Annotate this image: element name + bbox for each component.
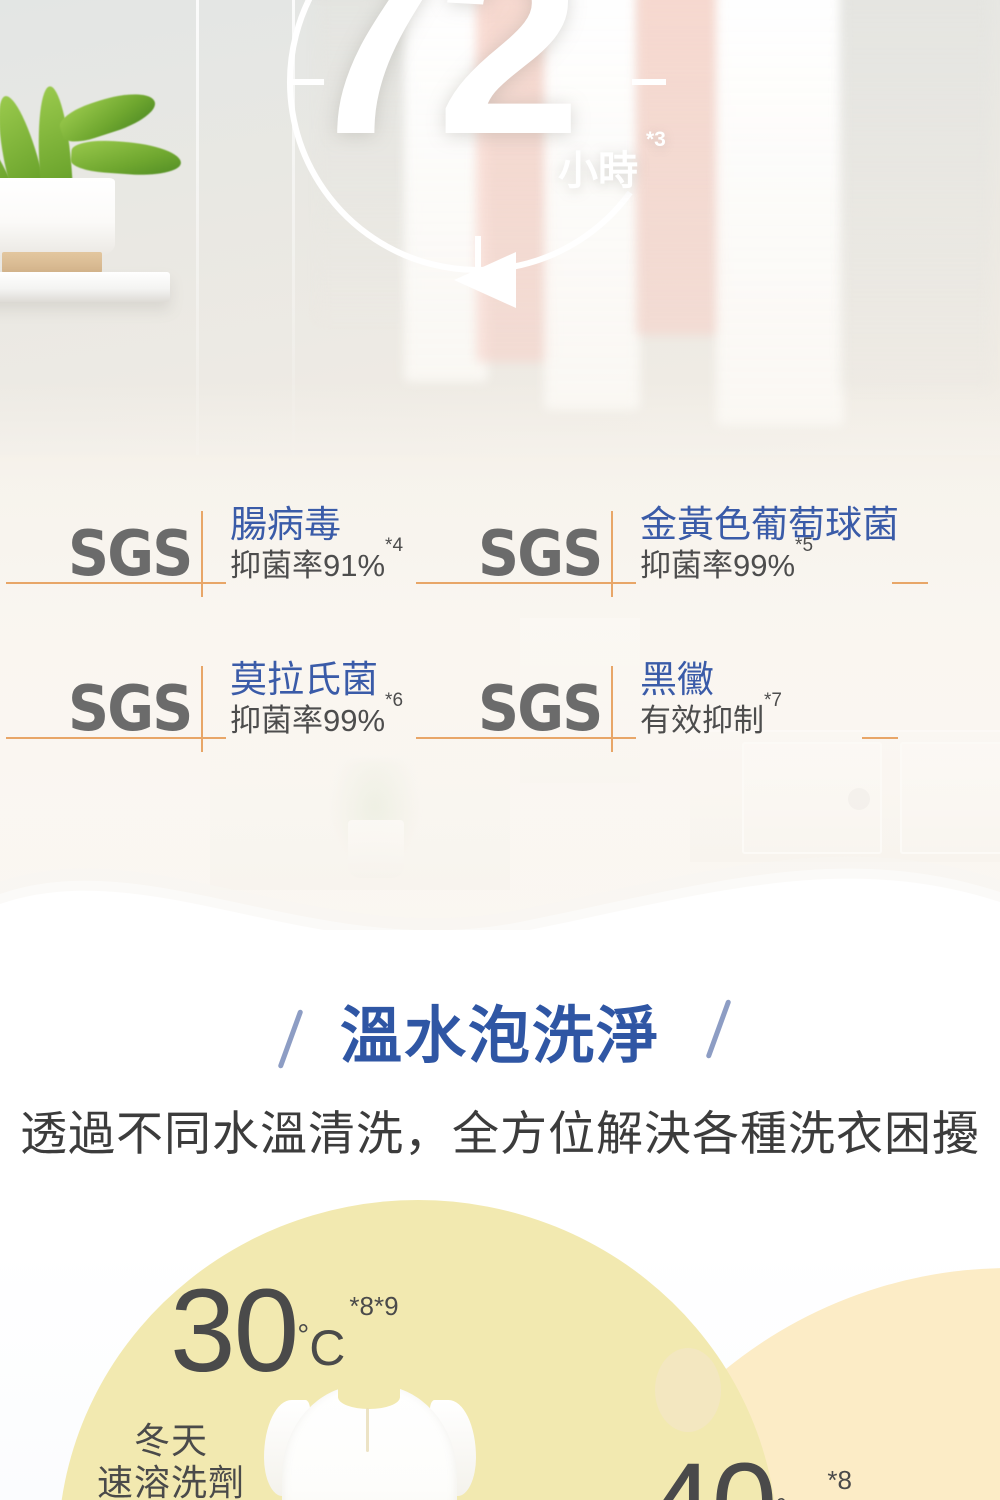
certification-title: 莫拉氏菌: [230, 660, 505, 700]
badge-divider-vertical: [201, 666, 203, 752]
temperature-unit: °C: [775, 1494, 823, 1500]
wall-shelf: [0, 272, 170, 302]
sgs-logo: SGS: [478, 523, 601, 585]
certification-metric: 抑菌率91%*4: [230, 547, 505, 586]
metric-footnote: *4: [385, 535, 403, 556]
plant-leaf: [70, 138, 182, 178]
badge-divider-vertical: [611, 666, 613, 752]
duration-unit: 小時: [558, 138, 638, 196]
hanging-shirt: [716, 0, 844, 426]
section-subheadline: 透過不同水溫清洗，全方位解決各種洗衣困擾: [0, 1095, 1000, 1164]
sgs-logo: SGS: [68, 678, 191, 740]
sgs-logo: SGS: [478, 678, 601, 740]
duration-footnote: *3: [646, 128, 666, 152]
certification-badge-moraxella: SGS 莫拉氏菌 抑菌率99%*6: [68, 660, 498, 770]
unit-letter: C: [309, 1320, 345, 1376]
sgs-logo: SGS: [68, 523, 191, 585]
certification-metric: 抑菌率99%*5: [640, 547, 915, 586]
badge-divider-tail: [862, 737, 898, 739]
badge-divider-tail: [892, 582, 928, 584]
certification-badge-staphylococcus: SGS 金黃色葡萄球菌 抑菌率99%*5: [478, 505, 908, 615]
temperature-value: 40: [648, 1439, 775, 1500]
plant-pot: [0, 178, 115, 258]
certification-title: 腸病毒: [230, 505, 505, 545]
metric-footnote: *7: [764, 690, 782, 711]
metric-footnote: *5: [795, 535, 813, 556]
decorative-dot: [655, 1348, 721, 1432]
temperature-callout-30: 30°C*8*9: [170, 1272, 395, 1390]
degree-symbol: °: [775, 1493, 787, 1500]
temperature-footnote: *8: [827, 1465, 852, 1495]
duration-callout: 72 小時 *3: [300, 0, 720, 250]
temperature-footnote: *8*9: [349, 1291, 398, 1321]
metric-footnote: *6: [385, 690, 403, 711]
certification-grid: SGS 腸病毒 抑菌率91%*4 SGS 金黃色葡萄球菌 抑菌率99%*5 SG…: [0, 505, 1000, 805]
garment-neckline: [338, 1385, 400, 1409]
badge-divider-vertical: [611, 511, 613, 597]
metric-value: 抑菌率99%: [640, 548, 795, 583]
temperature-label-30: 冬天 速溶洗劑: [66, 1420, 276, 1500]
plant-leaf: [56, 85, 160, 148]
metric-value: 有效抑制: [640, 703, 764, 738]
hanging-garment: [840, 0, 990, 390]
duration-value: 72: [300, 0, 573, 174]
certification-badge-enterovirus: SGS 腸病毒 抑菌率91%*4: [68, 505, 498, 615]
badge-divider-vertical: [201, 511, 203, 597]
degree-symbol: °: [297, 1319, 309, 1352]
metric-value: 抑菌率99%: [230, 703, 385, 738]
unit-letter: C: [787, 1494, 823, 1500]
temperature-callout-40: 40°C*8: [648, 1446, 848, 1500]
temperature-unit: °C: [297, 1320, 345, 1376]
section-headline: 溫水泡洗淨: [0, 985, 1000, 1075]
metric-value: 抑菌率91%: [230, 548, 385, 583]
certification-badge-black-mold: SGS 黑黴 有效抑制*7: [478, 660, 908, 770]
temperature-value: 30: [170, 1265, 297, 1397]
product-feature-page: 72 小時 *3 SGS 腸病毒 抑菌率91%*4 SGS 金黃色葡萄球菌 抑菌…: [0, 0, 1000, 1500]
certification-metric: 抑菌率99%*6: [230, 702, 505, 741]
certification-metric: 有效抑制*7: [640, 702, 915, 741]
garment-seam: [366, 1408, 369, 1452]
certification-title: 金黃色葡萄球菌: [640, 505, 915, 545]
